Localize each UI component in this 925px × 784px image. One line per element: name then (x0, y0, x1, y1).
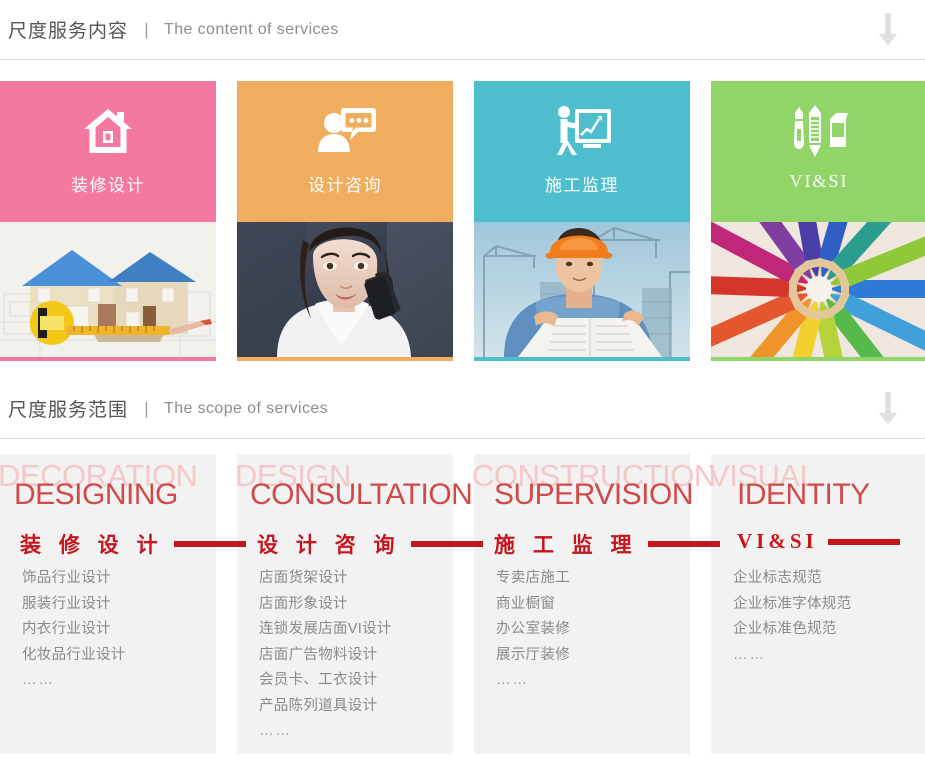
section-title-separator: 丨 (138, 396, 155, 421)
person-speech-bubble-icon (314, 103, 376, 159)
panel-title-en: IDENTITY (737, 478, 870, 512)
arrow-down-icon (875, 13, 901, 47)
scope-list: 店面货架设计 店面形象设计 连锁发展店面VI设计 店面广告物料设计 会员卡、工衣… (259, 566, 443, 745)
list-item[interactable]: 展示厅装修 (496, 643, 680, 669)
services-page: 尺度服务内容 丨 The content of services (0, 0, 925, 784)
scope-panel-visual-identity: VISUAL IDENTITY VI&SI 企业标志规范 企业标准字体规范 企业… (711, 454, 925, 754)
panel-title-en: CONSULTATION (250, 478, 472, 512)
scope-panel-designing: DECORATION DESIGNING 装 修 设 计 饰品行业设计 服装行业… (0, 454, 216, 754)
house-icon (81, 103, 135, 159)
card-header: VI&SI (711, 81, 925, 218)
panel-title-cn: VI&SI (737, 529, 818, 554)
card-label: 设计咨询 (308, 171, 382, 196)
panel-title-cn: 施 工 监 理 (494, 529, 638, 559)
section-header-scope: 尺度服务范围 丨 The scope of services (0, 379, 925, 439)
pen-pencil-eraser-icon (790, 103, 848, 159)
panel-title-en: SUPERVISION (494, 478, 693, 512)
card-photo-visual-identity (711, 218, 925, 361)
list-item[interactable]: 连锁发展店面VI设计 (259, 617, 443, 643)
card-header: 装修设计 (0, 81, 216, 218)
section-header-content: 尺度服务内容 丨 The content of services (0, 0, 925, 60)
panel-title-rule (411, 541, 483, 547)
list-item[interactable]: 化妆品行业设计 (22, 643, 206, 669)
presenter-chart-icon (553, 103, 611, 159)
list-item[interactable]: 饰品行业设计 (22, 566, 206, 592)
panel-title-cn-row: VI&SI (737, 529, 900, 554)
list-item[interactable]: 企业标准字体规范 (733, 592, 917, 618)
list-item[interactable]: 企业标准色规范 (733, 617, 917, 643)
panel-title-en: DESIGNING (14, 478, 178, 512)
section-title-separator: 丨 (138, 17, 155, 42)
list-item[interactable]: 店面广告物料设计 (259, 643, 443, 669)
service-card-consultation[interactable]: 设计咨询 (237, 81, 453, 361)
panel-title-cn: 装 修 设 计 (20, 529, 164, 559)
panel-title-cn-row: 装 修 设 计 (20, 529, 246, 559)
card-label: VI&SI (790, 171, 849, 192)
service-card-decoration[interactable]: 装修设计 (0, 81, 216, 361)
scope-list: 专卖店施工 商业橱窗 办公室装修 展示厅装修 …… (496, 566, 680, 694)
card-label: 装修设计 (71, 171, 145, 196)
service-card-visual-identity[interactable]: VI&SI (711, 81, 925, 361)
list-item[interactable]: 服装行业设计 (22, 592, 206, 618)
scope-list: 企业标志规范 企业标准字体规范 企业标准色规范 …… (733, 566, 917, 668)
service-card-supervision[interactable]: 施工监理 (474, 81, 690, 361)
list-item[interactable]: 会员卡、工衣设计 (259, 668, 443, 694)
card-photo-supervision (474, 218, 690, 361)
list-item-ellipsis: …… (259, 719, 443, 745)
card-header: 施工监理 (474, 81, 690, 218)
list-item[interactable]: 商业橱窗 (496, 592, 680, 618)
panel-title-rule (828, 539, 900, 545)
scope-panel-supervision: CONSTRUCTION SUPERVISION 施 工 监 理 专卖店施工 商… (474, 454, 690, 754)
card-photo-consultation (237, 218, 453, 361)
card-label: 施工监理 (545, 171, 619, 196)
service-cards: 装修设计 (0, 60, 925, 361)
section-title-en: The scope of services (164, 400, 328, 418)
scope-panel-consultation: DESIGN CONSULTATION 设 计 咨 询 店面货架设计 店面形象设… (237, 454, 453, 754)
list-item-ellipsis: …… (22, 668, 206, 694)
list-item-ellipsis: …… (733, 643, 917, 669)
list-item[interactable]: 企业标志规范 (733, 566, 917, 592)
scope-panels: DECORATION DESIGNING 装 修 设 计 饰品行业设计 服装行业… (0, 439, 925, 754)
section-title-cn: 尺度服务范围 (8, 395, 128, 422)
list-item[interactable]: 内衣行业设计 (22, 617, 206, 643)
panel-title-rule (174, 541, 246, 547)
list-item[interactable]: 店面货架设计 (259, 566, 443, 592)
list-item[interactable]: 办公室装修 (496, 617, 680, 643)
section-title-en: The content of services (164, 21, 339, 39)
list-item-ellipsis: …… (496, 668, 680, 694)
scope-list: 饰品行业设计 服装行业设计 内衣行业设计 化妆品行业设计 …… (22, 566, 206, 694)
panel-title-cn-row: 施 工 监 理 (494, 529, 720, 559)
panel-title-cn-row: 设 计 咨 询 (257, 529, 483, 559)
card-photo-decoration (0, 218, 216, 361)
arrow-down-icon (875, 392, 901, 426)
list-item[interactable]: 专卖店施工 (496, 566, 680, 592)
list-item[interactable]: 产品陈列道具设计 (259, 694, 443, 720)
panel-title-cn: 设 计 咨 询 (257, 529, 401, 559)
list-item[interactable]: 店面形象设计 (259, 592, 443, 618)
panel-title-rule (648, 541, 720, 547)
card-header: 设计咨询 (237, 81, 453, 218)
section-title-cn: 尺度服务内容 (8, 16, 128, 43)
